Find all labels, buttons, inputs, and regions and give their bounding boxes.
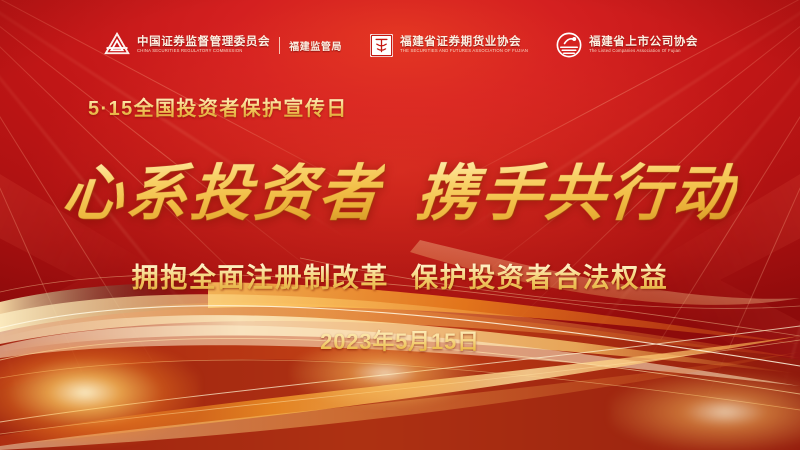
logo-sfaf-name-en: THE SECURITIES AND FUTURES ASSOCIATION O…	[400, 48, 528, 54]
logo-sfaf-name-cn: 福建省证券期货业协会	[400, 36, 528, 48]
tagline-part-right: 保护投资者合法权益	[411, 263, 668, 293]
tagline-part-left: 拥抱全面注册制改革	[132, 263, 389, 293]
logo-csrc-divider	[279, 37, 280, 54]
campaign-tagline: 拥抱全面注册制改革保护投资者合法权益	[0, 256, 800, 295]
headline-part-left: 心系投资者	[59, 143, 387, 232]
logo-lcaf-text: 福建省上市公司协会 The Listed Companies Associati…	[589, 36, 698, 54]
organizer-logo-bar: 中国证券监督管理委员会 CHINA SECURITIES REGULATORY …	[0, 30, 800, 60]
logo-sfaf: 福建省证券期货业协会 THE SECURITIES AND FUTURES AS…	[368, 32, 528, 59]
logo-csrc-sub: 福建监管局	[289, 38, 342, 53]
logo-lcaf-name-cn: 福建省上市公司协会	[589, 36, 698, 48]
headline-part-right: 携手共行动	[413, 143, 741, 232]
logo-sfaf-text: 福建省证券期货业协会 THE SECURITIES AND FUTURES AS…	[400, 36, 528, 54]
event-date: 2023年5月15日	[0, 324, 800, 356]
logo-lcaf-name-en: The Listed Companies Association Of Fuji…	[589, 48, 698, 54]
logo-csrc-text: 中国证券监督管理委员会 CHINA SECURITIES REGULATORY …	[137, 36, 270, 54]
csrc-emblem-icon	[102, 30, 132, 60]
logo-csrc: 中国证券监督管理委员会 CHINA SECURITIES REGULATORY …	[102, 30, 342, 60]
investor-protection-banner: 中国证券监督管理委员会 CHINA SECURITIES REGULATORY …	[0, 0, 800, 450]
campaign-eyebrow: 5·15全国投资者保护宣传日	[88, 92, 348, 121]
logo-lcaf: 福建省上市公司协会 The Listed Companies Associati…	[554, 30, 698, 60]
campaign-headline: 心系投资者 携手共行动	[0, 143, 800, 232]
sfaf-seal-icon	[368, 32, 395, 59]
logo-csrc-name-en: CHINA SECURITIES REGULATORY COMMISSION	[137, 48, 270, 54]
lcaf-emblem-icon	[554, 30, 584, 60]
ribbon-glow-right	[610, 372, 800, 450]
logo-csrc-name-cn: 中国证券监督管理委员会	[137, 36, 270, 48]
